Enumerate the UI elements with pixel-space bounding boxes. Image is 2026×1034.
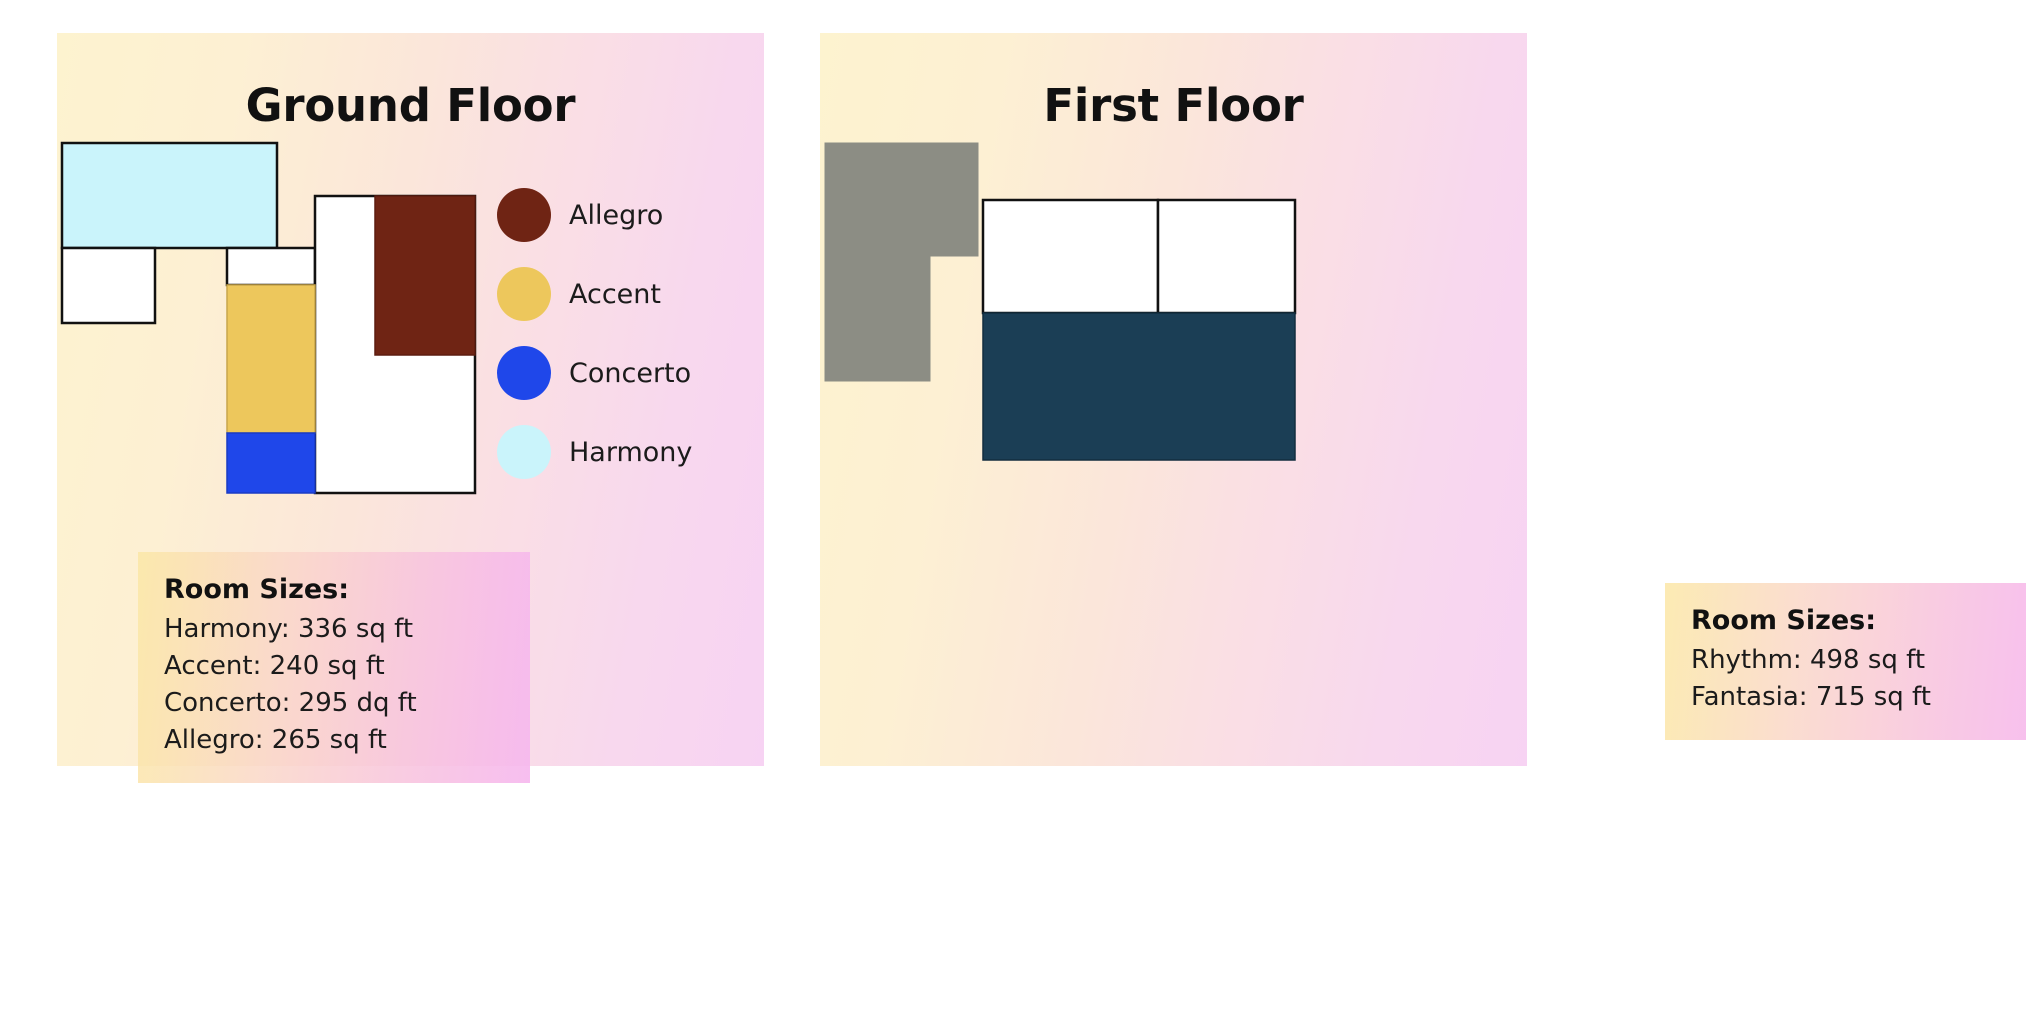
room-shape-harmony[interactable] [62,143,277,248]
room-size-line: Harmony: 336 sq ft [164,611,504,648]
room-size-line: Allegro: 265 sq ft [164,722,504,759]
room-shape-fantasia[interactable] [983,313,1295,460]
room-sizes-box-ground: Room Sizes: Harmony: 336 sq ft Accent: 2… [138,552,530,783]
legend-ground: Allegro Accent Concerto Harmony [497,188,692,479]
floor-title-ground: Ground Floor [57,79,764,132]
legend-label-concerto: Concerto [569,358,691,389]
room-shape-concerto[interactable] [227,433,315,493]
room-size-line: Rhythm: 498 sq ft [1691,642,2021,679]
floorplan-canvas: Ground Floor Allegr [0,0,2026,1034]
room-shape-rhythm[interactable] [825,143,978,381]
room-size-line: Fantasia: 715 sq ft [1691,679,2021,716]
room-shape-fantasia-upper-right[interactable] [1158,200,1295,313]
room-shape-allegro[interactable] [375,196,475,355]
legend-label-harmony: Harmony [569,437,692,468]
legend-label-allegro: Allegro [569,200,663,231]
legend-item-harmony[interactable]: Harmony [497,425,692,479]
room-shape-accent[interactable] [227,285,315,433]
legend-swatch-harmony [497,425,551,479]
legend-label-accent: Accent [569,279,661,310]
room-sizes-title-ground: Room Sizes: [164,574,504,605]
legend-item-accent[interactable]: Accent [497,267,692,321]
legend-item-concerto[interactable]: Concerto [497,346,692,400]
room-shape-accent-hall[interactable] [227,248,315,285]
floor-panel-first: First Floor Rhythm Fantasia [820,33,1527,766]
room-sizes-title-first: Room Sizes: [1691,605,2021,636]
room-shape-fantasia-upper-left[interactable] [983,200,1158,313]
legend-swatch-accent [497,267,551,321]
legend-swatch-concerto [497,346,551,400]
room-size-line: Accent: 240 sq ft [164,648,504,685]
room-sizes-box-first: Room Sizes: Rhythm: 498 sq ft Fantasia: … [1665,583,2026,740]
room-size-line: Concerto: 295 dq ft [164,685,504,722]
floor-panel-ground: Ground Floor Allegr [57,33,764,766]
legend-swatch-allegro [497,188,551,242]
floorplan-drawing-first [820,143,1527,543]
legend-item-allegro[interactable]: Allegro [497,188,692,242]
floor-title-first: First Floor [820,79,1527,132]
room-shape-harmony-annex[interactable] [62,248,155,323]
